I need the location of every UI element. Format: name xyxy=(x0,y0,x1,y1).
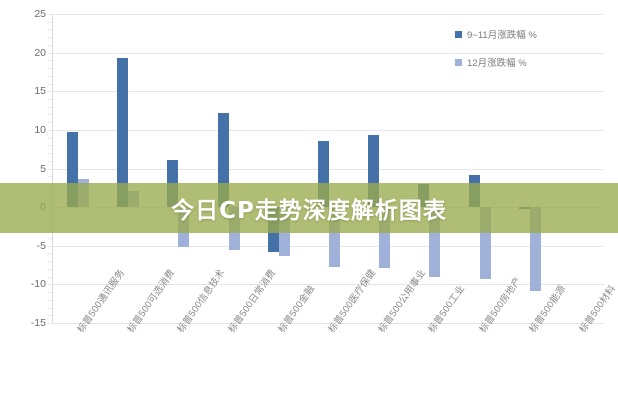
legend-swatch-icon xyxy=(455,31,462,38)
y-axis-tick-label: -5 xyxy=(4,241,46,251)
chart-legend: 9~11月涨跌幅 %12月涨跌幅 % xyxy=(455,27,605,83)
y-axis-tick-label: -15 xyxy=(4,318,46,328)
watermark-text: 今日CP走势深度解析图表 xyxy=(171,191,447,225)
y-axis-tick-label: 5 xyxy=(4,164,46,174)
y-axis-tick-label: -10 xyxy=(4,279,46,289)
chart-container: 2520151050-5-10-15 标普500通讯服务标普500可选消费标普5… xyxy=(0,0,618,400)
legend-label: 12月涨跌幅 % xyxy=(467,55,527,69)
bar-group xyxy=(52,14,102,323)
x-axis-labels: 标普500通讯服务标普500可选消费标普500信息技术标普500日常消费标普50… xyxy=(52,323,604,400)
y-axis-tick-label: 25 xyxy=(4,9,46,19)
legend-swatch-icon xyxy=(455,59,462,66)
y-axis-labels: 2520151050-5-10-15 xyxy=(0,14,46,323)
legend-label: 9~11月涨跌幅 % xyxy=(467,27,537,41)
legend-item[interactable]: 12月涨跌幅 % xyxy=(455,55,605,69)
y-axis-tick-label: 20 xyxy=(4,48,46,58)
legend-item[interactable]: 9~11月涨跌幅 % xyxy=(455,27,605,41)
y-axis-tick-label: 15 xyxy=(4,86,46,96)
bar-group xyxy=(303,14,353,323)
y-axis-tick-label: 10 xyxy=(4,125,46,135)
watermark-band: 今日CP走势深度解析图表 xyxy=(0,183,618,233)
